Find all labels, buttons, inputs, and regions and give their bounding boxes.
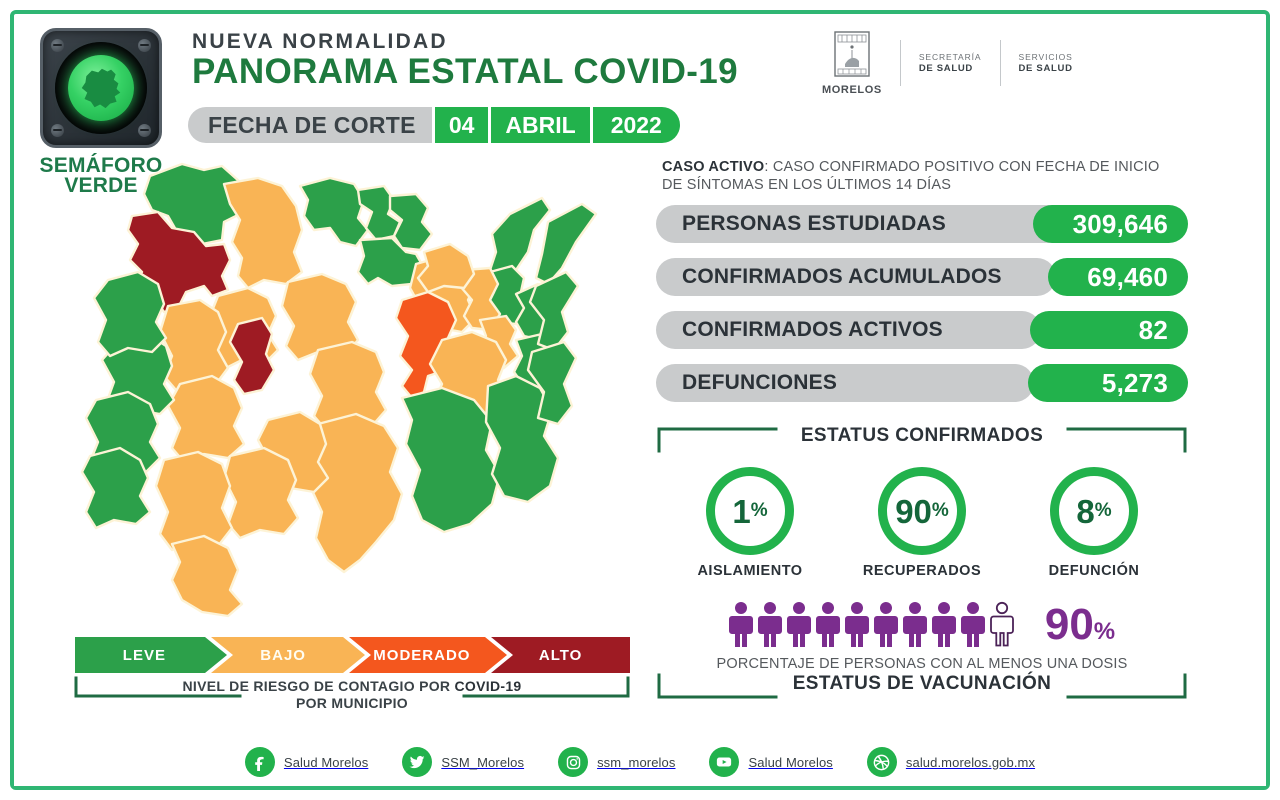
social-label: salud.morelos.gob.mx	[906, 755, 1035, 770]
region-miacatlan	[94, 272, 166, 356]
vaccination-row: 90 %	[656, 600, 1188, 650]
stat-label: CONFIRMADOS ACTIVOS	[656, 318, 943, 342]
vaccination-people-figures	[729, 600, 1029, 650]
estatus-label: DEFUNCIÓN	[1019, 563, 1169, 579]
risk-legend: LEVE BAJO MODERADO ALTO	[75, 637, 630, 673]
stat-label-pill: DEFUNCIONES	[656, 364, 1034, 402]
servicios-de-salud-logo: SERVICIOS DE SALUD	[1019, 51, 1073, 75]
people-pictogram-icon	[729, 600, 1029, 650]
vaccination-value: 90	[1045, 603, 1094, 647]
estatus-label: RECUPERADOS	[847, 563, 997, 579]
estatus-value: 1	[732, 495, 750, 528]
screw-icon	[51, 124, 64, 137]
estatus-value: 8	[1076, 495, 1094, 528]
infographic-page: SEMÁFORO VERDE NUEVA NORMALIDAD PANORAMA…	[0, 0, 1280, 800]
estatus-circles: 1 % AISLAMIENTO 90 % RECUPERADOS 8 % DEF…	[656, 467, 1188, 579]
stat-label-pill: CONFIRMADOS ACTIVOS	[656, 311, 1041, 349]
social-link-youtube[interactable]: Salud Morelos	[709, 747, 832, 777]
legend-label-moderado: MODERADO	[353, 637, 492, 673]
person-figure-filled	[903, 602, 927, 647]
stat-label: DEFUNCIONES	[656, 371, 837, 395]
estatus-item-recuperados: 90 % RECUPERADOS	[847, 467, 997, 579]
servicios-line-2: DE SALUD	[1019, 63, 1073, 75]
estatus-vacunacion-section: 90 % PORCENTAJE DE PERSONAS CON AL MENOS…	[656, 600, 1188, 703]
secretaria-de-salud-logo: SECRETARÍA DE SALUD	[919, 51, 982, 75]
person-figure-filled	[758, 602, 782, 647]
facebook-icon	[245, 747, 275, 777]
risk-caption-bold: COVID-19	[455, 678, 522, 694]
estatus-percent-sign: %	[1095, 500, 1112, 522]
traffic-light-lens	[55, 42, 147, 134]
stat-value: 5,273	[1102, 368, 1188, 399]
person-figure-filled	[845, 602, 869, 647]
servicios-line-1: SERVICIOS	[1019, 51, 1073, 63]
risk-caption-line-1: NIVEL DE RIESGO DE CONTAGIO POR COVID-19	[72, 678, 632, 695]
logo-divider	[900, 40, 901, 86]
person-figure-filled	[932, 602, 956, 647]
person-figure-filled	[874, 602, 898, 647]
risk-caption-pre: NIVEL DE RIESGO DE CONTAGIO POR	[183, 678, 455, 694]
twitter-icon	[402, 747, 432, 777]
screw-icon	[51, 39, 64, 52]
morelos-municipality-map	[72, 160, 632, 620]
person-figure-outline	[991, 603, 1013, 646]
secretaria-line-1: SECRETARÍA	[919, 51, 982, 63]
traffic-light-icon	[40, 28, 162, 148]
social-link-instagram[interactable]: ssm_morelos	[558, 747, 675, 777]
vaccination-subtitle: PORCENTAJE DE PERSONAS CON AL MENOS UNA …	[656, 656, 1188, 672]
vaccination-percentage: 90 %	[1045, 603, 1115, 647]
stat-value: 309,646	[1073, 209, 1188, 240]
screw-icon	[138, 124, 151, 137]
youtube-icon	[709, 747, 739, 777]
estatus-circle: 90 %	[878, 467, 966, 555]
estatus-confirmados-header: ESTATUS CONFIRMADOS	[656, 425, 1188, 453]
stat-label: CONFIRMADOS ACUMULADOS	[656, 265, 1002, 289]
estatus-circle: 1 %	[706, 467, 794, 555]
stat-value-pill: 82	[1030, 311, 1188, 349]
morelos-government-logo: MORELOS	[822, 30, 882, 96]
person-figure-filled	[961, 602, 985, 647]
risk-legend-labels: LEVE BAJO MODERADO ALTO	[75, 637, 630, 673]
region-mazatepec	[82, 448, 150, 528]
stat-row-confirmados-acumulados: CONFIRMADOS ACUMULADOS 69,460	[656, 258, 1188, 296]
estatus-confirmados-title: ESTATUS CONFIRMADOS	[656, 425, 1188, 447]
stat-value-pill: 69,460	[1048, 258, 1188, 296]
stat-label-pill: PERSONAS ESTUDIADAS	[656, 205, 1086, 243]
estatus-item-aislamiento: 1 % AISLAMIENTO	[675, 467, 825, 579]
region-tlalnepantla	[300, 178, 368, 246]
vaccination-percent-sign: %	[1094, 620, 1115, 644]
logo-divider	[1000, 40, 1001, 86]
instagram-icon	[558, 747, 588, 777]
estatus-circle: 8 %	[1050, 467, 1138, 555]
traffic-light-green-lamp	[68, 55, 134, 121]
active-case-note: CASO ACTIVO: CASO CONFIRMADO POSITIVO CO…	[662, 158, 1182, 194]
active-case-note-bold: CASO ACTIVO	[662, 159, 764, 175]
social-label: ssm_morelos	[597, 755, 675, 770]
risk-legend-caption: NIVEL DE RIESGO DE CONTAGIO POR COVID-19…	[72, 678, 632, 712]
person-figure-filled	[787, 602, 811, 647]
secretaria-line-2: DE SALUD	[919, 63, 982, 75]
social-link-twitter[interactable]: SSM_Morelos	[402, 747, 524, 777]
stat-value: 82	[1139, 315, 1188, 346]
region-amacuzac	[172, 536, 242, 616]
institutional-logos: MORELOS SECRETARÍA DE SALUD SERVICIOS DE…	[822, 30, 1073, 96]
stat-row-confirmados-activos: CONFIRMADOS ACTIVOS 82	[656, 311, 1188, 349]
legend-label-bajo: BAJO	[214, 637, 353, 673]
cutoff-date-year: 2022	[593, 107, 680, 143]
page-title: PANORAMA ESTATAL COVID-19	[192, 52, 738, 92]
map-svg	[72, 160, 632, 620]
stat-value-pill: 5,273	[1028, 364, 1188, 402]
stat-value-pill: 309,646	[1033, 205, 1188, 243]
estatus-confirmados-section: ESTATUS CONFIRMADOS 1 % AISLAMIENTO 90 %…	[656, 425, 1188, 579]
cutoff-date-label: FECHA DE CORTE	[188, 107, 432, 143]
stat-row-personas-estudiadas: PERSONAS ESTUDIADAS 309,646	[656, 205, 1188, 243]
region-xochitepec	[168, 376, 244, 462]
legend-label-leve: LEVE	[75, 637, 214, 673]
stat-label: PERSONAS ESTUDIADAS	[656, 212, 946, 236]
estatus-vacunacion-title: ESTATUS DE VACUNACIÓN	[656, 673, 1188, 695]
social-footer: Salud Morelos SSM_Morelos ssm_morelos	[14, 738, 1266, 786]
morelos-state-silhouette-icon	[78, 66, 124, 110]
estatus-percent-sign: %	[932, 500, 949, 522]
social-label: Salud Morelos	[748, 755, 832, 770]
social-link-website[interactable]: salud.morelos.gob.mx	[867, 747, 1035, 777]
social-label: SSM_Morelos	[441, 755, 524, 770]
social-link-facebook[interactable]: Salud Morelos	[245, 747, 368, 777]
stats-bars: PERSONAS ESTUDIADAS 309,646 CONFIRMADOS …	[656, 205, 1188, 417]
person-figure-filled	[816, 602, 840, 647]
estatus-value: 90	[895, 495, 932, 528]
person-figure-filled	[729, 602, 753, 647]
estatus-label: AISLAMIENTO	[675, 563, 825, 579]
cutoff-date-day: 04	[435, 107, 489, 143]
region-jojutla	[224, 448, 298, 538]
cutoff-date-bar: FECHA DE CORTE 04 ABRIL 2022	[188, 107, 680, 143]
estatus-percent-sign: %	[751, 500, 768, 522]
stat-label-pill: CONFIRMADOS ACUMULADOS	[656, 258, 1056, 296]
estatus-item-defuncion: 8 % DEFUNCIÓN	[1019, 467, 1169, 579]
risk-caption-line-2: POR MUNICIPIO	[72, 695, 632, 712]
region-puente-de-ixtla	[156, 452, 232, 550]
vaccination-footer: ESTATUS DE VACUNACIÓN	[656, 673, 1188, 703]
legend-label-alto: ALTO	[491, 637, 630, 673]
social-label: Salud Morelos	[284, 755, 368, 770]
morelos-crest-icon	[829, 30, 875, 82]
stat-row-defunciones: DEFUNCIONES 5,273	[656, 364, 1188, 402]
region-temixco	[160, 300, 228, 390]
region-oaxtepec	[418, 244, 474, 292]
web-icon	[867, 747, 897, 777]
stat-value: 69,460	[1087, 262, 1188, 293]
region-tepoztlan	[224, 178, 302, 288]
morelos-logo-text: MORELOS	[822, 84, 882, 96]
header-kicker: NUEVA NORMALIDAD	[192, 30, 448, 54]
cutoff-date-month: ABRIL	[491, 107, 589, 143]
screw-icon	[138, 39, 151, 52]
